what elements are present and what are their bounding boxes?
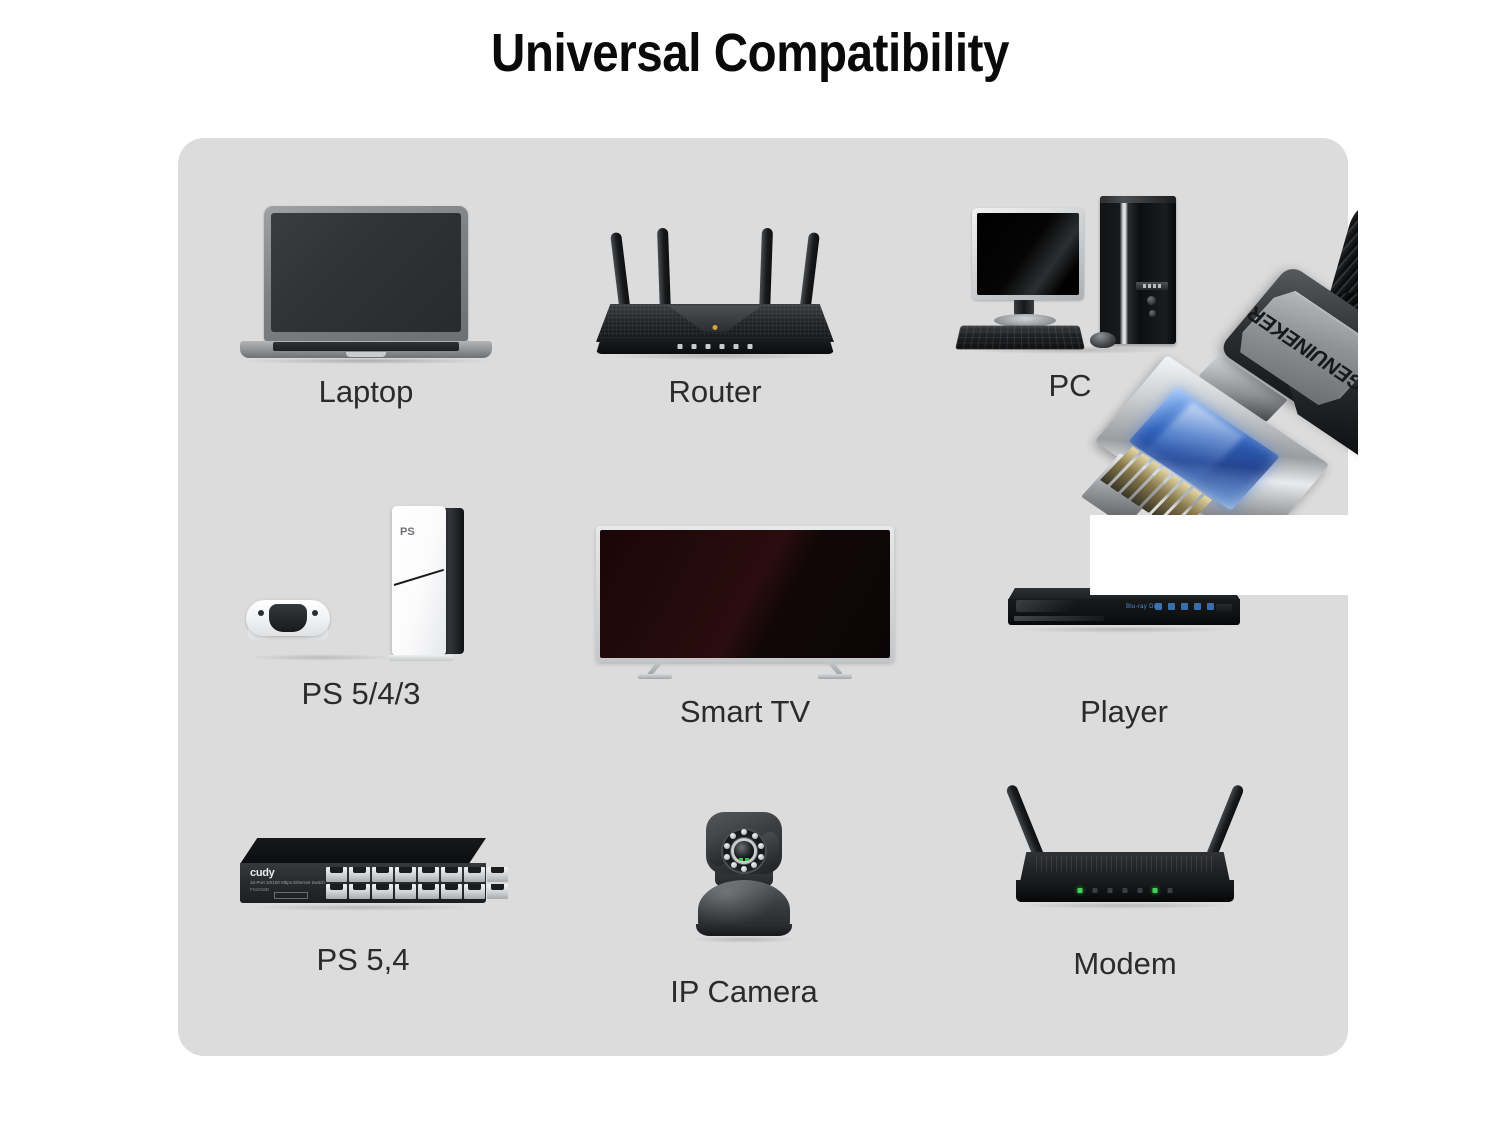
device-cell-laptop: Laptop bbox=[238, 206, 494, 416]
wifi-router-icon bbox=[596, 206, 834, 366]
device-label-modem: Modem bbox=[1006, 946, 1244, 982]
device-label-pc: PC bbox=[958, 368, 1182, 404]
device-cell-router: Router bbox=[596, 206, 834, 416]
console-logo: PS bbox=[400, 526, 415, 538]
device-label-laptop: Laptop bbox=[238, 374, 494, 410]
device-cell-pc: PC bbox=[958, 196, 1182, 416]
switch-subtitle: 16-Port 10/100 Mbps Ethernet Switch bbox=[250, 880, 325, 885]
device-label-router: Router bbox=[596, 374, 834, 410]
device-cell-ps543: PS PS 5/4/3 bbox=[236, 506, 486, 716]
switch-model: FS1016D bbox=[250, 887, 269, 892]
device-cell-switch: cudy 16-Port 10/100 Mbps Ethernet Switch… bbox=[240, 838, 486, 1018]
network-switch-icon: cudy 16-Port 10/100 Mbps Ethernet Switch… bbox=[240, 838, 486, 1018]
device-cell-smart-tv: Smart TV bbox=[596, 526, 894, 726]
infographic-page: Universal Compatibility Laptop bbox=[0, 0, 1500, 1125]
device-cell-ip-camera: IP Camera bbox=[618, 804, 870, 1016]
device-cell-player: Blu-ray Disc Player bbox=[1008, 588, 1240, 728]
device-label-ps543: PS 5/4/3 bbox=[236, 676, 486, 712]
switch-brand-logo: cudy bbox=[250, 867, 274, 879]
device-label-smart-tv: Smart TV bbox=[596, 694, 894, 730]
device-label-ip-camera: IP Camera bbox=[618, 974, 870, 1010]
device-cell-modem: Modem bbox=[1006, 776, 1244, 1016]
device-label-player: Player bbox=[1008, 694, 1240, 730]
device-label-switch: PS 5,4 bbox=[240, 942, 486, 978]
switch-port-array bbox=[326, 867, 508, 899]
page-title: Universal Compatibility bbox=[90, 22, 1410, 84]
compatibility-panel: Laptop Router bbox=[178, 138, 1348, 1056]
